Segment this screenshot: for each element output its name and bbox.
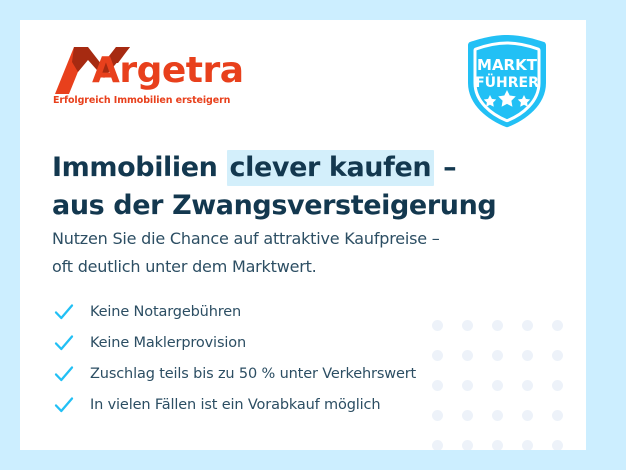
decorative-dot	[462, 410, 473, 421]
poster-canvas: Argetra Erfolgreich Immobilien ersteiger…	[0, 0, 626, 470]
benefits-checklist: Keine NotargebührenKeine Maklerprovision…	[53, 296, 416, 420]
decorative-dot	[492, 320, 503, 331]
badge-line2: FÜHRER	[475, 73, 539, 91]
list-item-label: Zuschlag teils bis zu 50 % unter Verkehr…	[90, 366, 416, 382]
page-title: Immobilien clever kaufen – aus der Zwang…	[52, 150, 532, 224]
check-icon	[53, 394, 75, 416]
subheading-line1: Nutzen Sie die Chance auf attraktive Kau…	[52, 225, 522, 253]
decorative-dot	[432, 320, 443, 331]
decorative-dot	[432, 350, 443, 361]
subheading-line2: oft deutlich unter dem Marktwert.	[52, 253, 522, 281]
decorative-dot	[462, 440, 473, 451]
decorative-dot	[462, 320, 473, 331]
decorative-dot	[522, 320, 533, 331]
market-leader-badge: MARKT FÜHRER	[463, 33, 551, 129]
check-icon	[53, 363, 75, 385]
decorative-dot	[492, 440, 503, 451]
decorative-dot	[552, 380, 563, 391]
decorative-dot	[432, 410, 443, 421]
list-item-label: Keine Notargebühren	[90, 304, 241, 320]
decorative-dot-grid	[422, 310, 572, 450]
decorative-dot	[432, 380, 443, 391]
subheading: Nutzen Sie die Chance auf attraktive Kau…	[52, 225, 522, 281]
decorative-dot	[462, 380, 473, 391]
decorative-dot	[432, 440, 443, 451]
list-item-label: In vielen Fällen ist ein Vorabkauf mögli…	[90, 397, 380, 413]
decorative-dot	[522, 440, 533, 451]
decorative-dot	[522, 410, 533, 421]
decorative-dot	[552, 440, 563, 451]
headline-part1: Immobilien	[52, 152, 227, 183]
list-item: In vielen Fällen ist ein Vorabkauf mögli…	[53, 389, 416, 420]
decorative-dot	[552, 350, 563, 361]
decorative-dot	[492, 350, 503, 361]
badge-line1: MARKT	[477, 56, 538, 74]
logo-wordmark: Argetra	[92, 49, 244, 93]
check-icon	[53, 332, 75, 354]
list-item-label: Keine Maklerprovision	[90, 335, 246, 351]
headline-line2: aus der Zwangsversteigerung	[52, 188, 532, 224]
logo-tagline: Erfolgreich Immobilien ersteigern	[53, 95, 232, 106]
decorative-dot	[492, 380, 503, 391]
decorative-dot	[552, 320, 563, 331]
decorative-dot	[522, 380, 533, 391]
list-item: Keine Notargebühren	[53, 296, 416, 327]
shield-badge-icon: MARKT FÜHRER	[463, 33, 551, 129]
headline-part2: –	[434, 152, 456, 183]
logo-mark-row: Argetra	[52, 44, 232, 94]
decorative-dot	[522, 350, 533, 361]
list-item: Keine Maklerprovision	[53, 327, 416, 358]
decorative-dot	[462, 350, 473, 361]
content-card: Argetra Erfolgreich Immobilien ersteiger…	[20, 20, 586, 450]
list-item: Zuschlag teils bis zu 50 % unter Verkehr…	[53, 358, 416, 389]
headline-highlight: clever kaufen	[227, 150, 435, 186]
check-icon	[53, 301, 75, 323]
argetra-logo[interactable]: Argetra Erfolgreich Immobilien ersteiger…	[52, 44, 232, 106]
decorative-dot	[552, 410, 563, 421]
decorative-dot	[492, 410, 503, 421]
